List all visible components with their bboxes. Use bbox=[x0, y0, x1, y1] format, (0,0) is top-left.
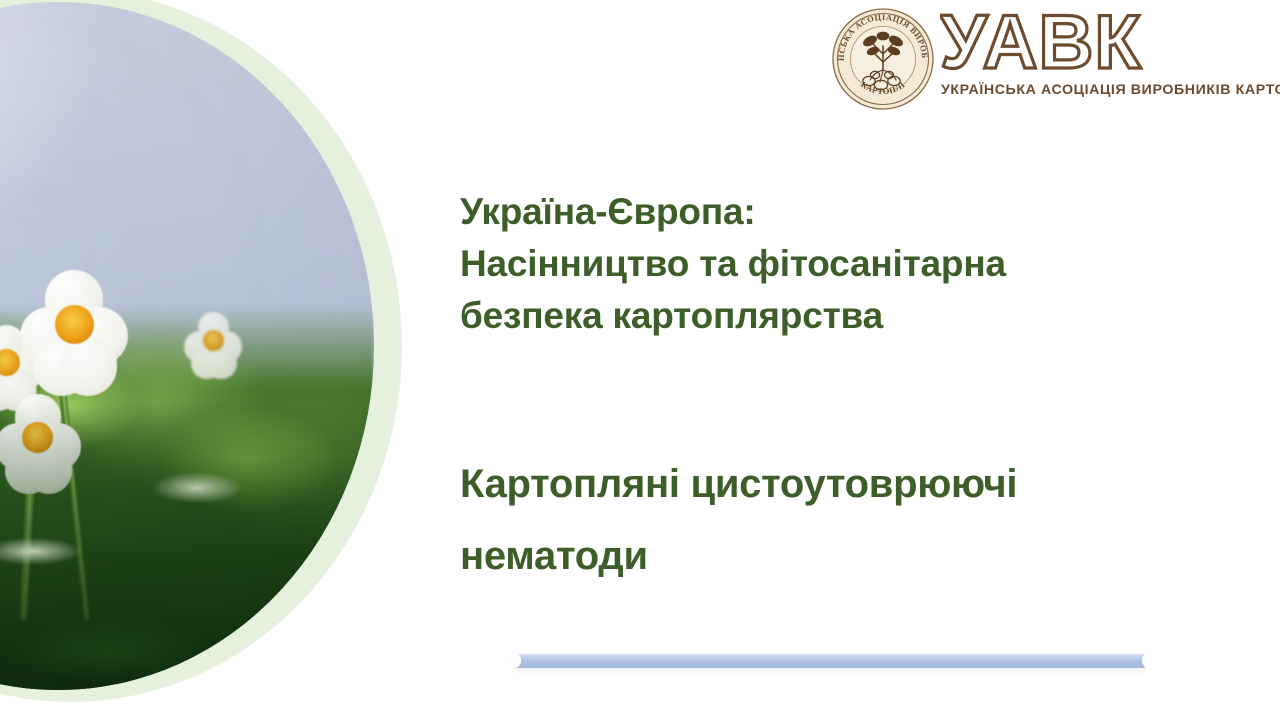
slide-title: Україна-Європа: Насінництво та фітосаніт… bbox=[460, 186, 1220, 342]
title-line-3: безпека картоплярства bbox=[460, 290, 1220, 342]
subtitle-line-2: нематоди bbox=[460, 520, 1220, 592]
accent-bar-fill bbox=[514, 653, 1145, 668]
photo-foreground-leaves bbox=[0, 401, 374, 690]
photo-flower-bud bbox=[85, 343, 120, 383]
photo-green-ring bbox=[0, 0, 402, 702]
accent-bar-cap-right bbox=[1142, 653, 1151, 668]
uavk-wordmark-text: УАВК bbox=[940, 6, 1142, 82]
title-line-1: Україна-Європа: bbox=[460, 186, 1220, 238]
slide-subtitle: Картопляні цистоутоврюючі нематоди bbox=[460, 448, 1220, 592]
photo-background-foliage bbox=[0, 305, 374, 690]
photo-plant-stem bbox=[19, 332, 43, 621]
photo-potato-blossom bbox=[0, 394, 81, 480]
accent-bar bbox=[508, 648, 1152, 678]
potato-field-photo bbox=[0, 2, 374, 690]
presentation-slide: УКРАЇНСЬКА АСОЦІАЦІЯ ВИРОБНИКІВ КАРТОПЛІ bbox=[0, 0, 1280, 720]
uavk-logo: УКРАЇНСЬКА АСОЦІАЦІЯ ВИРОБНИКІВ КАРТОПЛІ bbox=[832, 6, 1252, 110]
photo-sky-layer bbox=[0, 2, 374, 690]
uavk-wordmark: УАВК bbox=[940, 6, 1252, 82]
photo-potato-blossom bbox=[184, 312, 242, 370]
photo-plant-stem-secondary bbox=[58, 388, 89, 621]
photo-color-grade bbox=[0, 2, 374, 690]
uavk-seal-icon: УКРАЇНСЬКА АСОЦІАЦІЯ ВИРОБНИКІВ КАРТОПЛІ bbox=[832, 8, 934, 110]
photo-composition bbox=[0, 0, 402, 702]
title-line-2: Насінництво та фітосанітарна bbox=[460, 238, 1220, 290]
subtitle-line-1: Картопляні цистоутоврюючі bbox=[460, 448, 1220, 520]
uavk-tagline: УКРАЇНСЬКА АСОЦІАЦІЯ ВИРОБНИКІВ КАРТОПЛІ bbox=[941, 82, 1253, 98]
photo-midground-foliage bbox=[0, 360, 374, 690]
photo-potato-blossom bbox=[20, 270, 128, 378]
photo-potato-blossom bbox=[0, 325, 44, 399]
